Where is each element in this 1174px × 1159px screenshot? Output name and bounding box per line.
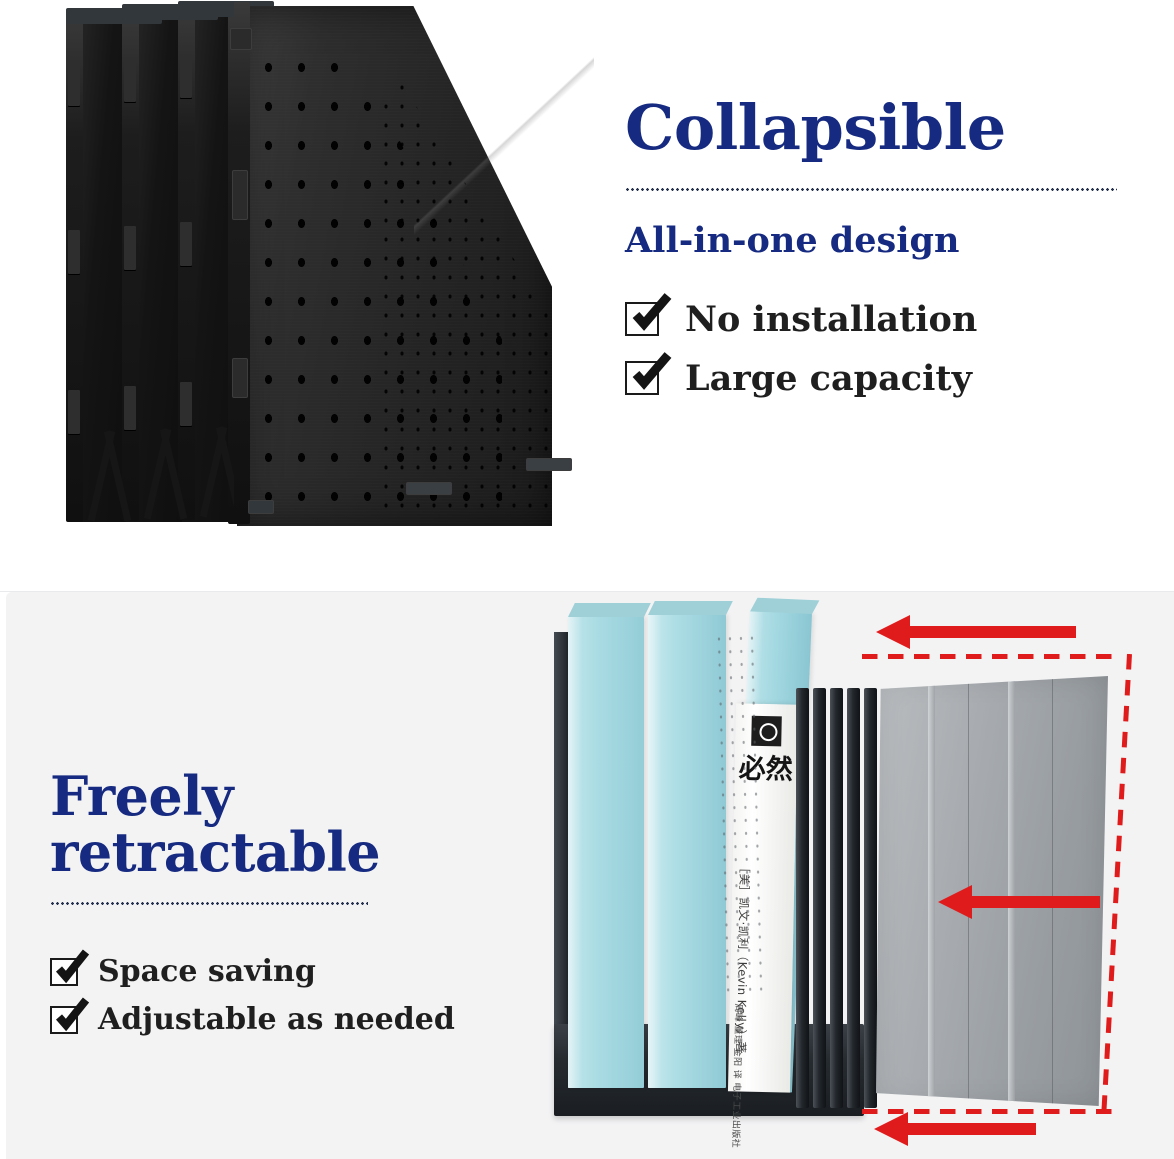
feature-item-space-saving: Space saving (50, 957, 570, 987)
bottom-feature-list: Space saving Adjustable as needed (50, 957, 570, 1035)
bottom-dotted-divider (50, 902, 368, 905)
feature-label: Space saving (98, 957, 316, 987)
gray-perforation-pattern (713, 631, 768, 992)
retract-outline (862, 654, 1122, 1114)
top-heading: Collapsible (625, 96, 1125, 160)
top-feature-section: Collapsible All-in-one design No install… (0, 0, 1174, 592)
checkbox-checked-icon (50, 1006, 78, 1034)
top-feature-list: No installation Large capacity (625, 302, 1125, 396)
top-dotted-divider (625, 188, 1117, 191)
collapsible-product-photo (62, 0, 552, 560)
book-publisher: 周峰 董理 金阳 译 电子工业出版社 (730, 1003, 746, 1143)
checkbox-checked-icon (625, 361, 659, 395)
checkbox-checked-icon (625, 302, 659, 336)
bottom-heading: Freely retractable (50, 768, 570, 880)
product-feature-page: Collapsible All-in-one design No install… (0, 0, 1174, 1159)
feature-label: Large capacity (685, 361, 972, 396)
top-subheading: All-in-one design (625, 221, 1125, 261)
outline-top-edge (862, 654, 1122, 659)
feature-item-no-installation: No installation (625, 302, 1125, 337)
bottom-copy-block: Freely retractable Space saving (50, 768, 570, 1035)
binder-1 (568, 616, 644, 1088)
feature-label: No installation (685, 302, 977, 337)
feature-item-adjustable: Adjustable as needed (50, 1005, 570, 1035)
feature-label: Adjustable as needed (98, 1005, 455, 1035)
retractable-product-photo: 必然 ［美］凯文·凯利（Kevin Kelly）著 周峰 董理 金阳 译 电子工… (526, 592, 1174, 1159)
feature-item-large-capacity: Large capacity (625, 361, 1125, 396)
top-copy-block: Collapsible All-in-one design No install… (625, 96, 1125, 396)
outline-right-edge (1101, 654, 1132, 1114)
checkbox-checked-icon (50, 958, 78, 986)
bottom-feature-section: Freely retractable Space saving (6, 592, 1174, 1159)
